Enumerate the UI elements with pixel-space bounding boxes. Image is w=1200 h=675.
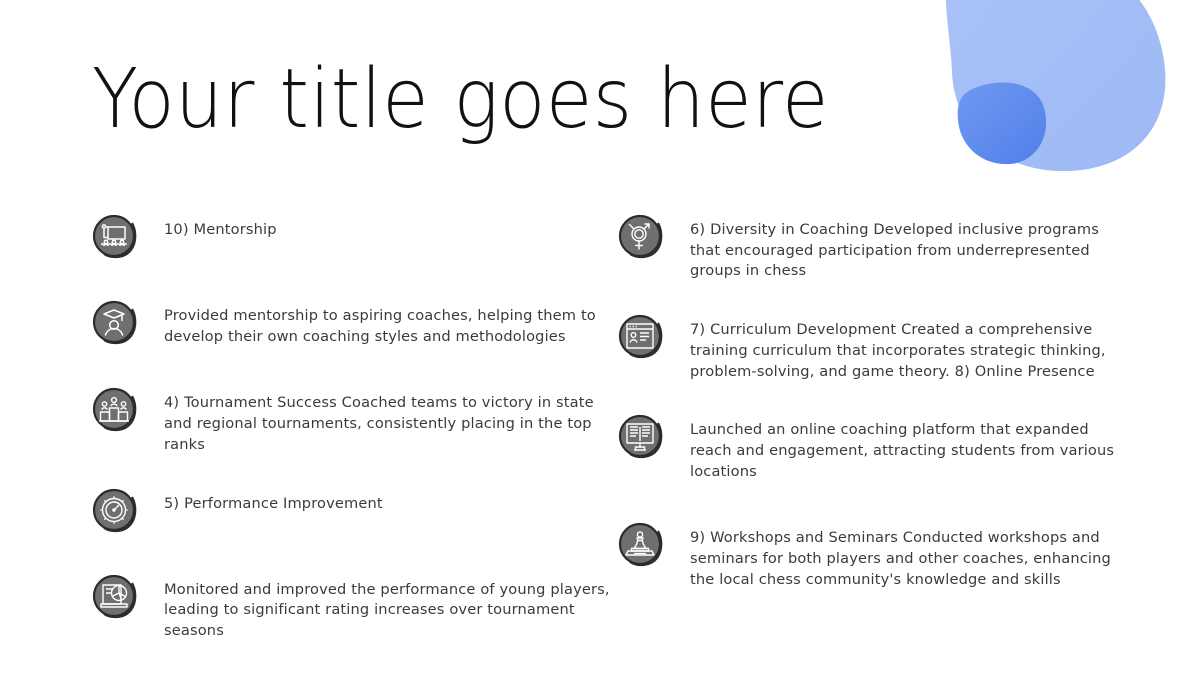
list-item-text: Monitored and improved the performance o…	[164, 572, 612, 642]
graduate-coach-icon	[92, 300, 138, 346]
list-item-text: 6) Diversity in Coaching Developed inclu…	[690, 212, 1120, 282]
blue-blob-large-shape	[946, 0, 1166, 171]
list-item[interactable]: Monitored and improved the performance o…	[92, 572, 612, 642]
content-column-left: 10) Mentorship Provided mentorship to as…	[92, 212, 612, 664]
list-item-text: 10) Mentorship	[164, 212, 277, 241]
page-title: Your title goes here	[92, 56, 829, 145]
chess-pawn-laptop-icon	[618, 522, 664, 568]
blue-blob-small-shape	[958, 83, 1046, 165]
desktop-elearning-icon	[618, 414, 664, 460]
online-curriculum-icon	[618, 314, 664, 360]
presentation-board-icon	[92, 214, 138, 260]
list-item[interactable]: 9) Workshops and Seminars Conducted work…	[618, 520, 1138, 590]
gender-diversity-icon	[618, 214, 664, 260]
list-item[interactable]: 7) Curriculum Development Created a comp…	[618, 312, 1138, 382]
list-item[interactable]: 5) Performance Improvement	[92, 486, 612, 534]
list-item-text: 7) Curriculum Development Created a comp…	[690, 312, 1120, 382]
list-item[interactable]: Provided mentorship to aspiring coaches,…	[92, 298, 612, 347]
list-item-text: 9) Workshops and Seminars Conducted work…	[690, 520, 1120, 590]
list-item-text: 5) Performance Improvement	[164, 486, 383, 515]
chart-report-icon	[92, 574, 138, 620]
list-item-text: 4) Tournament Success Coached teams to v…	[164, 385, 612, 455]
list-item[interactable]: 10) Mentorship	[92, 212, 612, 260]
decorative-blob-group	[940, 0, 1200, 220]
list-item-text: Provided mentorship to aspiring coaches,…	[164, 298, 612, 347]
list-item-text: Launched an online coaching platform tha…	[690, 412, 1120, 482]
winners-podium-icon	[92, 387, 138, 433]
list-item[interactable]: 4) Tournament Success Coached teams to v…	[92, 385, 612, 455]
list-item[interactable]: Launched an online coaching platform tha…	[618, 412, 1138, 482]
speedometer-gear-icon	[92, 488, 138, 534]
list-item[interactable]: 6) Diversity in Coaching Developed inclu…	[618, 212, 1138, 282]
content-column-right: 6) Diversity in Coaching Developed inclu…	[618, 212, 1138, 613]
